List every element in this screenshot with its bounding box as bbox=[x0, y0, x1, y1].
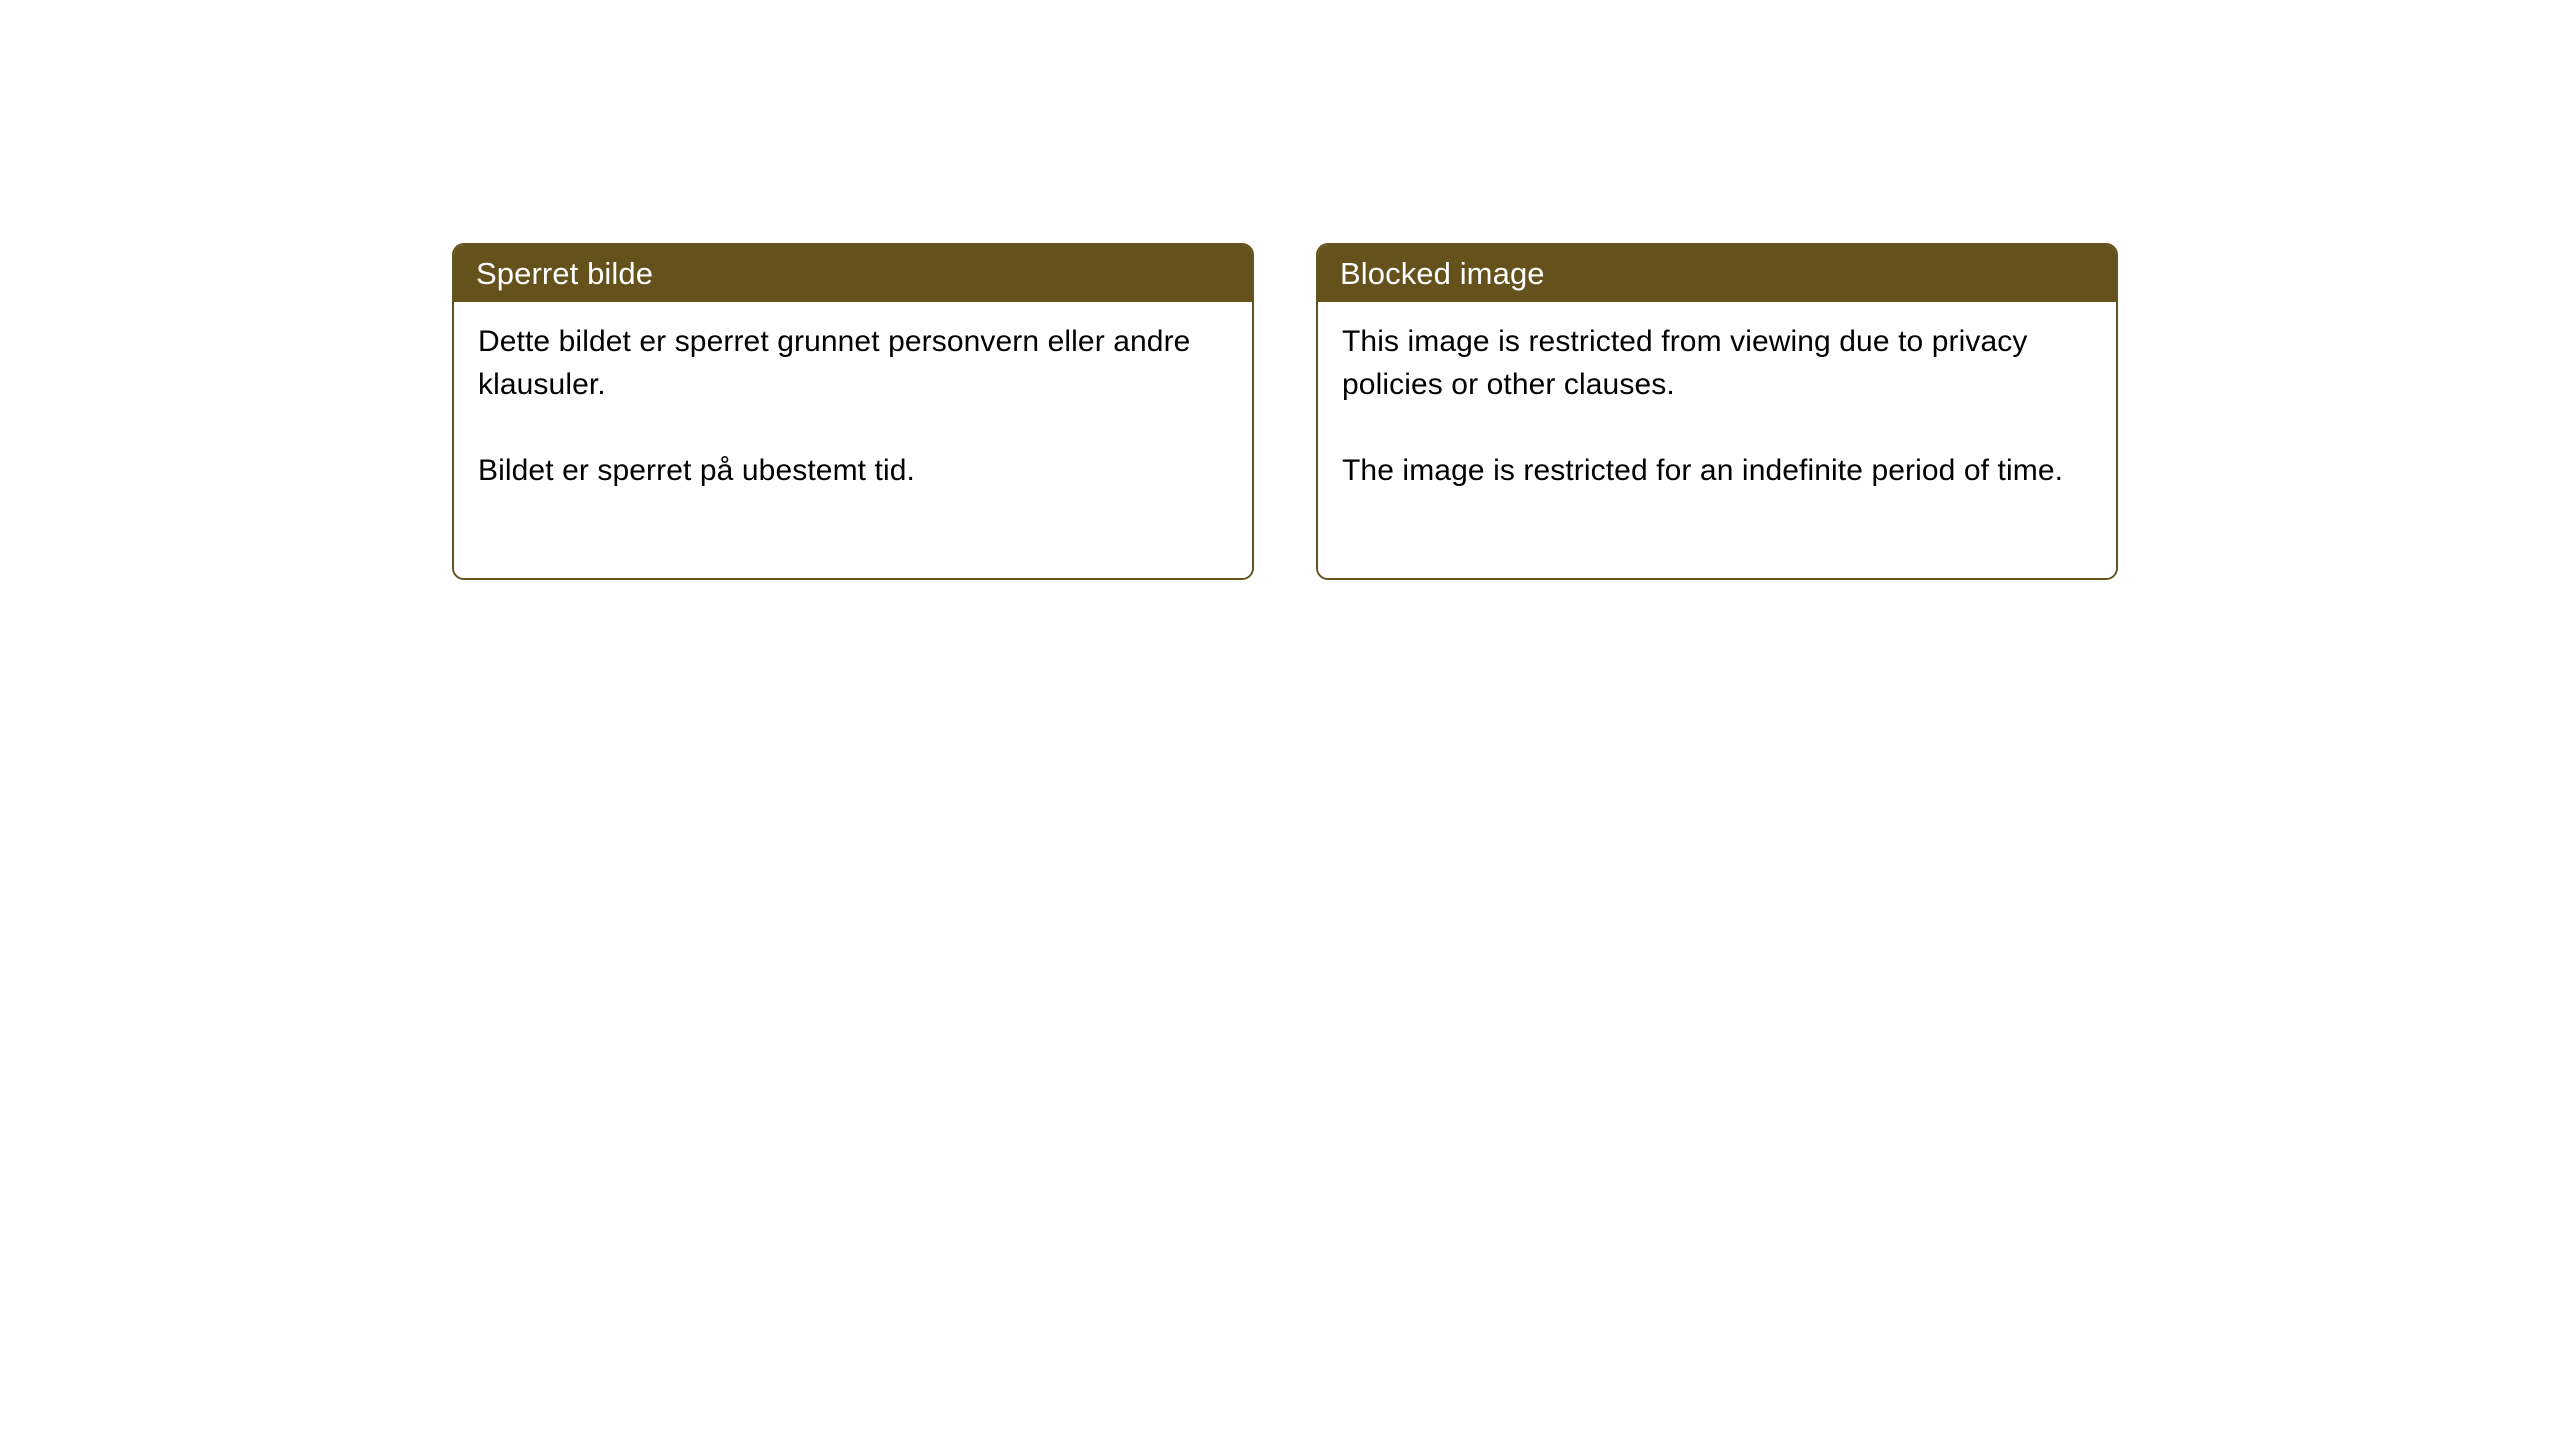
card-body-english: This image is restricted from viewing du… bbox=[1318, 302, 2116, 578]
card-paragraph-restriction-reason-english: This image is restricted from viewing du… bbox=[1342, 320, 2094, 406]
card-header-norwegian: Sperret bilde bbox=[454, 245, 1252, 302]
card-body-norwegian: Dette bildet er sperret grunnet personve… bbox=[454, 302, 1252, 578]
card-paragraph-restriction-duration-english: The image is restricted for an indefinit… bbox=[1342, 449, 2094, 492]
blocked-image-notices: Sperret bilde Dette bildet er sperret gr… bbox=[452, 243, 2118, 580]
card-paragraph-restriction-reason-norwegian: Dette bildet er sperret grunnet personve… bbox=[478, 320, 1230, 406]
blocked-image-card-english: Blocked image This image is restricted f… bbox=[1316, 243, 2118, 580]
card-header-english: Blocked image bbox=[1318, 245, 2116, 302]
card-title-english: Blocked image bbox=[1340, 258, 1545, 289]
card-paragraph-restriction-duration-norwegian: Bildet er sperret på ubestemt tid. bbox=[478, 449, 1230, 492]
card-title-norwegian: Sperret bilde bbox=[476, 258, 653, 289]
blocked-image-card-norwegian: Sperret bilde Dette bildet er sperret gr… bbox=[452, 243, 1254, 580]
